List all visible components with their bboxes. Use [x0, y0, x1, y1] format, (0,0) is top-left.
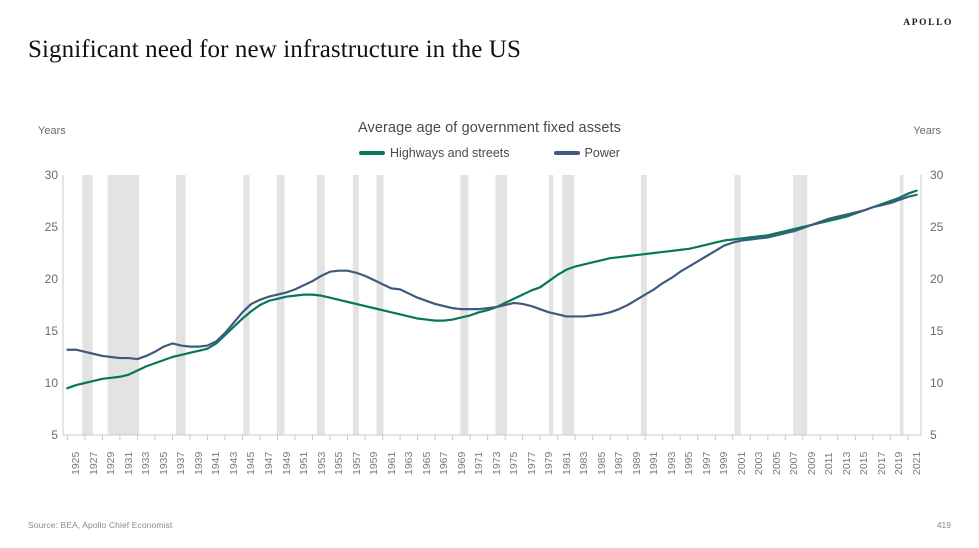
series-line — [67, 191, 916, 389]
recession-band — [641, 175, 647, 435]
recession-band — [176, 175, 186, 435]
chart-series — [67, 191, 916, 389]
recession-band — [108, 175, 140, 435]
slide-canvas: APOLLO Significant need for new infrastr… — [0, 0, 979, 548]
recession-band — [793, 175, 807, 435]
source-note: Source: BEA, Apollo Chief Economist — [28, 520, 172, 530]
recession-band — [735, 175, 741, 435]
series-line — [67, 195, 916, 359]
page-number: 419 — [937, 520, 951, 530]
recession-band — [900, 175, 904, 435]
recession-band — [549, 175, 553, 435]
recession-bands — [82, 175, 903, 435]
recession-band — [277, 175, 285, 435]
recession-band — [376, 175, 383, 435]
recession-band — [562, 175, 574, 435]
recession-band — [317, 175, 325, 435]
recession-band — [460, 175, 468, 435]
recession-band — [82, 175, 93, 435]
line-chart — [0, 0, 979, 548]
